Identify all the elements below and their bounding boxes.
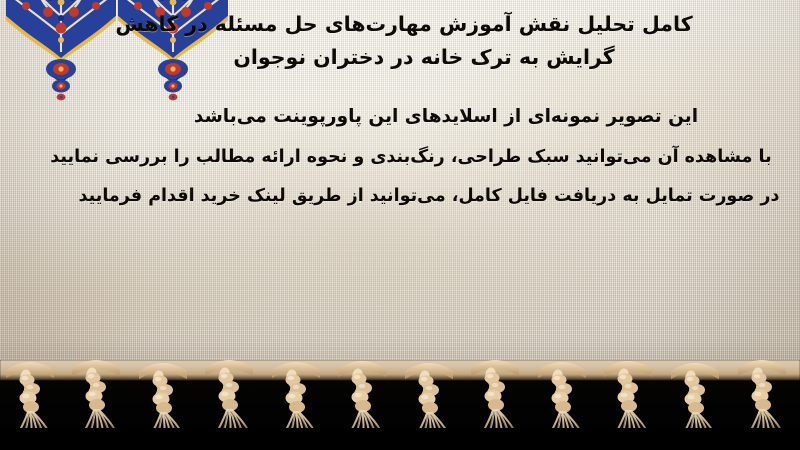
slide-body: این تصویر نمونه‌ای از اسلایدهای این پاور… [0,108,800,206]
body-line-3: در صورت تمایل به دریافت فایل کامل، می‌تو… [14,188,786,206]
slide-text-layer: کامل تحلیل نقش آموزش مهارت‌های حل مسئله … [0,0,800,383]
body-line-2: با مشاهده آن می‌توانید سبک طراحی، رنگ‌بن… [14,149,786,167]
body-line-1: این تصویر نمونه‌ای از اسلایدهای این پاور… [14,108,786,127]
bottom-black-band [0,428,800,450]
title-line-1: کامل تحلیل نقش آموزش مهارت‌های حل مسئله … [8,8,782,41]
slide-canvas: کامل تحلیل نقش آموزش مهارت‌های حل مسئله … [0,0,800,450]
carpet-fringe-band [0,360,800,450]
slide-title: کامل تحلیل نقش آموزش مهارت‌های حل مسئله … [0,8,800,74]
title-line-2: گرایش به ترک خانه در دختران نوجوان [8,41,782,74]
